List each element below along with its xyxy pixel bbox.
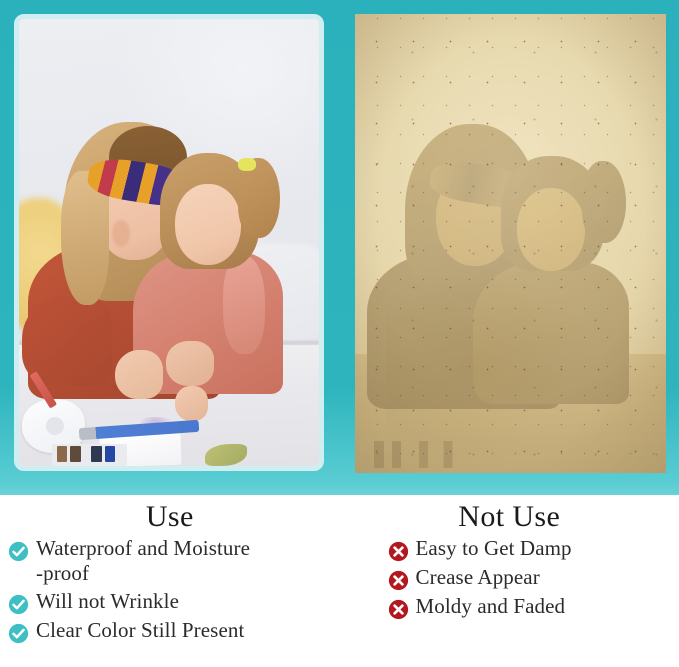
list-item-label: Moldy and Faded (416, 594, 566, 619)
comparison-panel: Use Waterproof and Moisture-proof (0, 495, 679, 667)
photo-child-head (175, 184, 241, 264)
use-column-title: Use (0, 500, 340, 534)
list-item-label: Clear Color Still Present (36, 618, 244, 643)
list-item-label: Easy to Get Damp (416, 536, 572, 561)
photo-child-arm (115, 350, 163, 399)
photo-palette-thumb-hole (46, 417, 64, 435)
photo-mother-face-shadow (112, 220, 130, 247)
photo-paint-dot (105, 446, 116, 461)
list-item: Will not Wrinkle (0, 589, 340, 615)
list-item: Crease Appear (340, 565, 679, 591)
check-circle-icon (8, 594, 29, 615)
check-circle-icon (8, 541, 29, 562)
not-use-column-title: Not Use (340, 500, 679, 534)
list-item: Waterproof and Moisture-proof (0, 536, 340, 586)
list-item-label: Waterproof and Moisture-proof (36, 536, 250, 586)
list-item: Easy to Get Damp (340, 536, 679, 562)
photo-paint-dot (91, 446, 102, 461)
good-example-photo (14, 14, 324, 471)
photo-child-hair-tie (238, 158, 256, 171)
use-bullet-list: Waterproof and Moisture-proof Will not W… (0, 536, 340, 644)
comparison-infographic: Use Waterproof and Moisture-proof (0, 0, 679, 667)
good-example-photo-content (19, 19, 319, 466)
photo-child-sleeve-ruffle (223, 256, 265, 354)
list-item: Moldy and Faded (340, 594, 679, 620)
photo-vignette (355, 14, 666, 473)
x-circle-icon (388, 570, 409, 591)
bad-example-photo (355, 14, 666, 473)
x-circle-icon (388, 599, 409, 620)
x-circle-icon (388, 541, 409, 562)
not-use-column: Not Use Easy to Get Damp (340, 495, 679, 667)
use-column: Use Waterproof and Moisture-proof (0, 495, 340, 667)
list-item: Clear Color Still Present (0, 618, 340, 644)
not-use-bullet-list: Easy to Get Damp Crease Appear (340, 536, 679, 620)
photo-child-hand (175, 386, 208, 422)
bad-example-photo-content (355, 14, 666, 473)
photo-paint-dot (70, 446, 81, 461)
list-item-label: Crease Appear (416, 565, 540, 590)
check-circle-icon (8, 623, 29, 644)
photo-mother-hand (166, 341, 214, 386)
list-item-label: Will not Wrinkle (36, 589, 179, 614)
photo-paint-dot (57, 446, 68, 461)
